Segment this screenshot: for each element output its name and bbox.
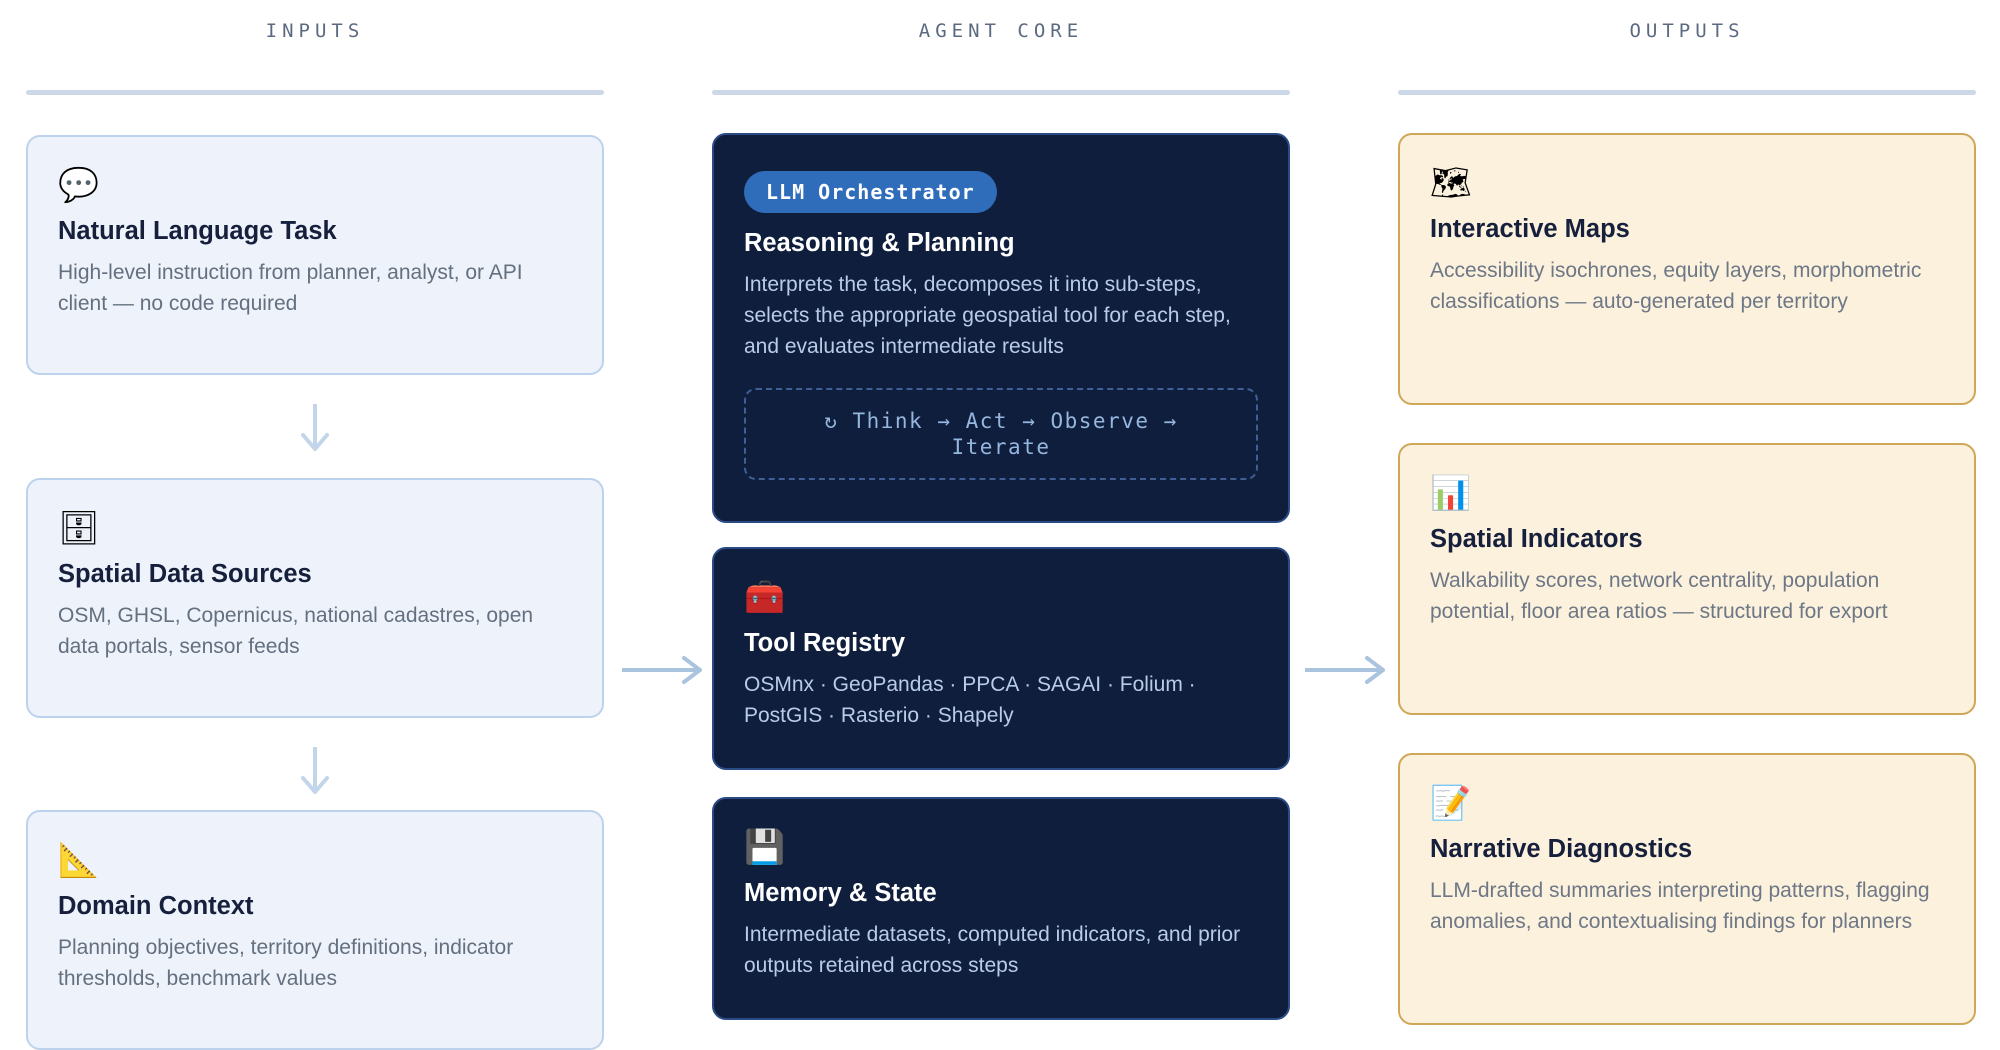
- column-header-inputs-label: INPUTS: [26, 18, 604, 44]
- card-description: Planning objectives, territory definitio…: [58, 932, 572, 994]
- column-header-agent-core: AGENT CORE: [712, 18, 1290, 95]
- connector-arrow-inputs-to-core: [620, 653, 710, 687]
- toolbox-icon: 🧰: [744, 577, 1258, 619]
- card-description: Walkability scores, network centrality, …: [1430, 565, 1944, 627]
- column-divider-inputs: [26, 90, 604, 95]
- column-header-outputs: OUTPUTS: [1398, 18, 1976, 95]
- database-icon: 🗄: [58, 508, 572, 550]
- memo-pencil-icon: 📝: [1430, 783, 1944, 825]
- card-description: LLM-drafted summaries interpreting patte…: [1430, 875, 1944, 937]
- reasoning-loop-box: ↻ Think → Act → Observe → Iterate: [744, 388, 1258, 480]
- column-header-inputs: INPUTS: [26, 18, 604, 95]
- card-tool-registry[interactable]: 🧰 Tool Registry OSMnx · GeoPandas · PPCA…: [712, 547, 1290, 770]
- card-title: Memory & State: [744, 877, 1258, 909]
- llm-orchestrator-badge: LLM Orchestrator: [744, 171, 997, 213]
- card-spatial-data-sources[interactable]: 🗄 Spatial Data Sources OSM, GHSL, Copern…: [26, 478, 604, 718]
- world-map-icon: 🗺: [1430, 163, 1944, 205]
- column-header-agent-core-label: AGENT CORE: [712, 18, 1290, 44]
- column-divider-outputs: [1398, 90, 1976, 95]
- card-spatial-indicators[interactable]: 📊 Spatial Indicators Walkability scores,…: [1398, 443, 1976, 715]
- card-title: Natural Language Task: [58, 215, 572, 247]
- reasoning-loop-text: ↻ Think → Act → Observe → Iterate: [770, 408, 1232, 460]
- bar-chart-icon: 📊: [1430, 473, 1944, 515]
- agent-architecture-diagram: INPUTS AGENT CORE OUTPUTS 💬 Natural Lang…: [0, 0, 2000, 1041]
- card-natural-language-task[interactable]: 💬 Natural Language Task High-level instr…: [26, 135, 604, 375]
- card-description: OSM, GHSL, Copernicus, national cadastre…: [58, 600, 572, 662]
- card-domain-context[interactable]: 📐 Domain Context Planning objectives, te…: [26, 810, 604, 1050]
- card-description: Interprets the task, decomposes it into …: [744, 269, 1258, 362]
- card-title: Spatial Indicators: [1430, 523, 1944, 555]
- card-title: Domain Context: [58, 890, 572, 922]
- column-divider-agent-core: [712, 90, 1290, 95]
- card-title: Spatial Data Sources: [58, 558, 572, 590]
- speech-bubble-icon: 💬: [58, 165, 572, 207]
- card-narrative-diagnostics[interactable]: 📝 Narrative Diagnostics LLM-drafted summ…: [1398, 753, 1976, 1025]
- connector-arrow-core-to-outputs: [1303, 653, 1393, 687]
- card-description: High-level instruction from planner, ana…: [58, 257, 572, 319]
- card-reasoning-and-planning[interactable]: LLM Orchestrator Reasoning & Planning In…: [712, 133, 1290, 523]
- card-interactive-maps[interactable]: 🗺 Interactive Maps Accessibility isochro…: [1398, 133, 1976, 405]
- card-description: OSMnx · GeoPandas · PPCA · SAGAI · Foliu…: [744, 669, 1258, 731]
- card-title: Reasoning & Planning: [744, 227, 1258, 259]
- card-title: Interactive Maps: [1430, 213, 1944, 245]
- floppy-disk-icon: 💾: [744, 827, 1258, 869]
- card-title: Narrative Diagnostics: [1430, 833, 1944, 865]
- card-description: Intermediate datasets, computed indicato…: [744, 919, 1258, 981]
- card-title: Tool Registry: [744, 627, 1258, 659]
- column-header-outputs-label: OUTPUTS: [1398, 18, 1976, 44]
- connector-arrow-down-1: [295, 402, 335, 456]
- card-description: Accessibility isochrones, equity layers,…: [1430, 255, 1944, 317]
- connector-arrow-down-2: [295, 745, 335, 799]
- triangle-ruler-icon: 📐: [58, 840, 572, 882]
- card-memory-and-state[interactable]: 💾 Memory & State Intermediate datasets, …: [712, 797, 1290, 1020]
